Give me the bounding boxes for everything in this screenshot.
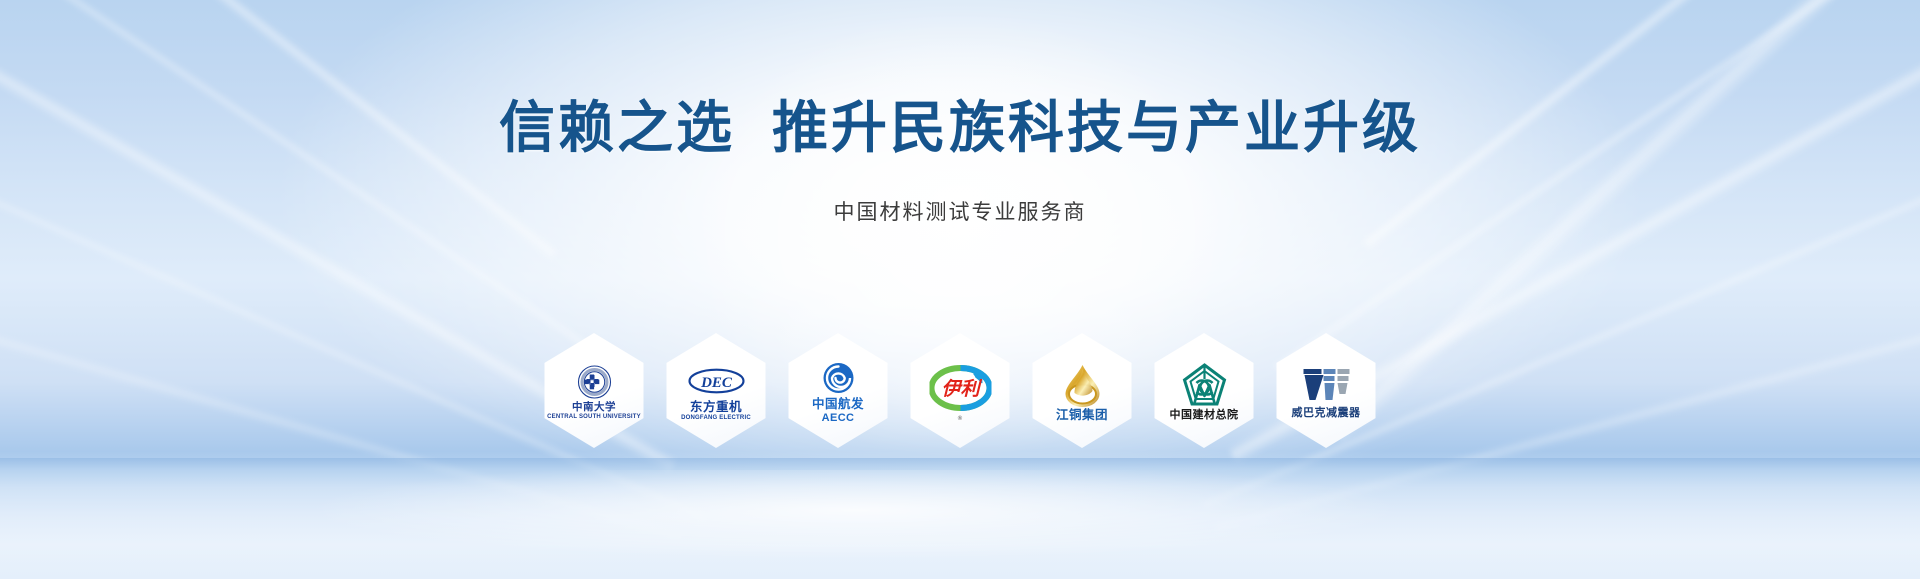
partner-logo-row: 中南大学 CENTRAL SOUTH UNIVERSITY DEC 东方重机 D… <box>545 333 1376 448</box>
svg-text:DEC: DEC <box>700 375 733 391</box>
csu-emblem-icon <box>577 364 611 400</box>
hero-banner: 信赖之选 推升民族科技与产业升级 中国材料测试专业服务商 <box>0 0 1920 579</box>
light-streak <box>0 0 558 260</box>
partner-hex-central-south-university[interactable]: 中南大学 CENTRAL SOUTH UNIVERSITY <box>545 333 644 448</box>
partner-name-cn: 中国航发 <box>812 398 864 412</box>
dec-oval-icon: DEC <box>687 363 745 399</box>
floor-reflection <box>0 458 1920 579</box>
partner-name-en: CENTRAL SOUTH UNIVERSITY <box>547 414 641 421</box>
vibracoustic-v-icon <box>1301 365 1351 405</box>
partner-hex-cbma[interactable]: 中国建材总院 <box>1155 333 1254 448</box>
partner-name-en: AECC <box>822 412 855 425</box>
hero-text-block: 信赖之选 推升民族科技与产业升级 中国材料测试专业服务商 <box>0 0 1920 226</box>
partner-name-en: DONGFANG ELECTRIC <box>681 415 751 422</box>
partner-hex-dongfang-electric[interactable]: DEC 东方重机 DONGFANG ELECTRIC <box>667 333 766 448</box>
hero-subtitle: 中国材料测试专业服务商 <box>0 196 1920 226</box>
light-streak <box>0 0 629 377</box>
partner-name-en: ® <box>958 416 963 423</box>
jcc-gold-ribbon-icon <box>1061 363 1103 407</box>
cbma-pentagon-icon <box>1182 363 1226 407</box>
partner-hex-jiangxi-copper[interactable]: 江铜集团 <box>1033 333 1132 448</box>
partner-hex-aecc[interactable]: 中国航发 AECC <box>789 333 888 448</box>
light-streak <box>1362 0 1920 250</box>
partner-hex-vibracoustic[interactable]: 威巴克减震器 <box>1277 333 1376 448</box>
hero-headline: 信赖之选 推升民族科技与产业升级 <box>0 96 1920 160</box>
svg-text:伊利: 伊利 <box>941 378 982 400</box>
yili-ellipse-icon: 伊利 <box>929 362 991 414</box>
partner-name-cn: 江铜集团 <box>1056 409 1108 423</box>
aecc-spiral-icon <box>822 360 854 396</box>
partner-name-cn: 东方重机 <box>690 401 742 415</box>
partner-name-cn: 中国建材总院 <box>1170 409 1239 421</box>
floor-sheen <box>307 470 1613 570</box>
partner-name-cn: 威巴克减震器 <box>1292 407 1361 419</box>
light-streak <box>1273 0 1920 372</box>
light-streak <box>0 87 706 522</box>
light-streak <box>1327 0 1920 444</box>
partner-hex-yili[interactable]: 伊利 ® <box>911 333 1010 448</box>
partner-name-cn: 中南大学 <box>572 402 616 414</box>
